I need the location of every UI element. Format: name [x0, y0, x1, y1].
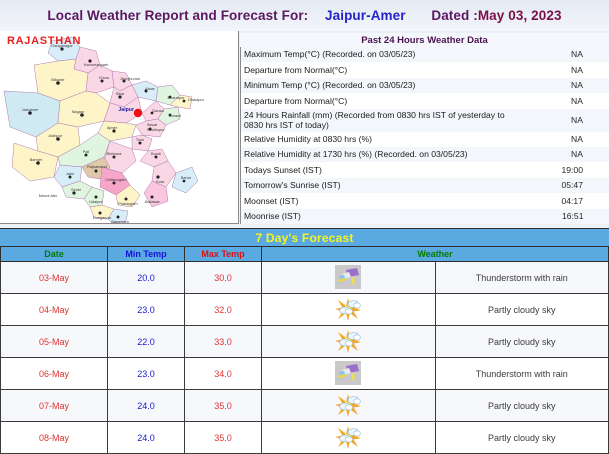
forecast-title: 7 Day's Forecast — [0, 228, 609, 247]
past-24-hours-panel: Past 24 Hours Weather Data Maximum Temp(… — [240, 33, 609, 223]
svg-text:Dhaulpur: Dhaulpur — [188, 97, 204, 102]
svg-text:Bundi: Bundi — [151, 151, 161, 156]
panel-divider — [238, 31, 239, 224]
partly-cloudy-icon — [333, 424, 363, 451]
forecast-icon-cell — [262, 422, 436, 454]
table-row: 04-May 23.0 32.0 — [1, 294, 609, 326]
svg-text:Churu: Churu — [99, 75, 110, 80]
row-value: NA — [508, 147, 609, 162]
forecast-max-temp: 35.0 — [185, 390, 262, 422]
svg-text:Rajsamand: Rajsamand — [87, 164, 107, 169]
svg-text:Nagaur: Nagaur — [72, 109, 85, 114]
svg-text:Pali: Pali — [83, 149, 90, 154]
partly-cloudy-icon — [333, 392, 363, 419]
table-row: 05-May 22.0 33.0 — [1, 326, 609, 358]
forecast-min-temp: 20.0 — [108, 262, 185, 294]
svg-text:Ajmer: Ajmer — [107, 125, 118, 130]
table-row: Relative Humidity at 0830 hrs (%) NA — [241, 132, 609, 147]
svg-text:Barmer: Barmer — [30, 157, 43, 162]
forecast-weather-text: Partly cloudy sky — [435, 422, 609, 454]
forecast-weather-text: Thunderstorm with rain — [435, 262, 609, 294]
map-city-jaipur: Jaipur — [118, 107, 134, 113]
svg-text:Udaipur: Udaipur — [89, 199, 103, 204]
svg-text:Sirohi: Sirohi — [71, 187, 81, 192]
row-label: Relative Humidity at 1730 hrs (%) (Recor… — [241, 147, 509, 162]
svg-text:Jhunjhunun: Jhunjhunun — [120, 76, 140, 81]
map-state-label: RAJASTHAN — [7, 35, 81, 47]
row-label: Departure from Normal(°C) — [241, 93, 509, 108]
forecast-date: 03-May — [1, 262, 108, 294]
forecast-max-temp: 30.0 — [185, 262, 262, 294]
row-label: 24 Hours Rainfall (mm) (Recorded from 08… — [241, 109, 509, 132]
rajasthan-map-svg: Ganganagar Hanumangarh Bikaner Churu Jhu… — [0, 31, 238, 224]
forecast-min-temp: 24.0 — [108, 390, 185, 422]
forecast-table: Date Min Temp Max Temp Weather 03-May 20… — [0, 247, 609, 454]
map-bottom-divider — [0, 223, 238, 224]
row-label: Moonrise (IST) — [241, 209, 509, 224]
row-label: Relative Humidity at 0830 hrs (%) — [241, 132, 509, 147]
row-value: NA — [508, 47, 609, 62]
svg-text:Pratapgarh: Pratapgarh — [118, 201, 137, 206]
svg-text:Baron: Baron — [181, 175, 191, 180]
forecast-min-temp: 24.0 — [108, 422, 185, 454]
svg-text:Karauli: Karauli — [169, 113, 181, 118]
table-row: 24 Hours Rainfall (mm) (Recorded from 08… — [241, 109, 609, 132]
weather-report-page: Local Weather Report and Forecast For: J… — [0, 0, 609, 452]
past-24-heading: Past 24 Hours Weather Data — [240, 33, 609, 47]
forecast-max-temp: 35.0 — [185, 422, 262, 454]
row-value: 19:00 — [508, 162, 609, 177]
row-value: NA — [508, 62, 609, 77]
forecast-icon-cell — [262, 262, 436, 294]
table-row: Minimum Temp (°C) (Recorded. on 03/05/23… — [241, 78, 609, 93]
table-row: Relative Humidity at 1730 hrs (%) (Recor… — [241, 147, 609, 162]
column-header-max-temp: Max Temp — [185, 247, 262, 262]
forecast-weather-text: Thunderstorm with rain — [435, 358, 609, 390]
table-row: 06-May 23.0 34.0 — [1, 358, 609, 390]
row-label: Departure from Normal(°C) — [241, 62, 509, 77]
forecast-weather-text: Partly cloudy sky — [435, 390, 609, 422]
svg-text:Tonk: Tonk — [136, 137, 144, 142]
title-location: Jaipur-Amer — [325, 8, 406, 23]
thunderstorm-rain-icon — [333, 360, 363, 387]
table-row: 08-May 24.0 35.0 — [1, 422, 609, 454]
table-row: Todays Sunset (IST) 19:00 — [241, 162, 609, 177]
table-row: 03-May 20.0 30.0 — [1, 262, 609, 294]
forecast-min-temp: 22.0 — [108, 326, 185, 358]
forecast-icon-cell — [262, 390, 436, 422]
forecast-date: 06-May — [1, 358, 108, 390]
svg-text:Jaisalmer: Jaisalmer — [22, 107, 39, 112]
svg-text:Bharatpur: Bharatpur — [167, 95, 185, 100]
partly-cloudy-icon — [333, 328, 363, 355]
row-value: 05:47 — [508, 178, 609, 193]
column-header-min-temp: Min Temp — [108, 247, 185, 262]
svg-text:Madhopur: Madhopur — [147, 127, 165, 132]
table-row: 07-May 24.0 35.0 — [1, 390, 609, 422]
forecast-min-temp: 23.0 — [108, 294, 185, 326]
row-value: NA — [508, 109, 609, 132]
title-dated-value: May 03, 2023 — [478, 8, 562, 23]
table-row: Moonset (IST) 04:17 — [241, 193, 609, 208]
forecast-date: 05-May — [1, 326, 108, 358]
past-24-table: Maximum Temp(°C) (Recorded. on 03/05/23)… — [240, 47, 609, 224]
svg-text:Bhilwara: Bhilwara — [107, 151, 123, 156]
thunderstorm-rain-icon — [333, 264, 363, 291]
forecast-icon-cell — [262, 326, 436, 358]
forecast-max-temp: 34.0 — [185, 358, 262, 390]
district-baran — [172, 167, 198, 193]
forecast-date: 07-May — [1, 390, 108, 422]
forecast-date: 08-May — [1, 422, 108, 454]
svg-text:Mount Abu: Mount Abu — [39, 193, 58, 198]
forecast-max-temp: 33.0 — [185, 326, 262, 358]
svg-text:Kota: Kota — [156, 179, 165, 184]
forecast-icon-cell — [262, 294, 436, 326]
column-header-weather: Weather — [262, 247, 609, 262]
page-header: Local Weather Report and Forecast For: J… — [0, 0, 609, 31]
forecast-weather-text: Partly cloudy sky — [435, 326, 609, 358]
partly-cloudy-icon — [333, 296, 363, 323]
row-label: Tomorrow's Sunrise (IST) — [241, 178, 509, 193]
column-header-date: Date — [1, 247, 108, 262]
row-value: NA — [508, 132, 609, 147]
row-value: NA — [508, 78, 609, 93]
forecast-section: 7 Day's Forecast Date Min Temp Max Temp … — [0, 228, 609, 454]
title-prefix: Local Weather Report and Forecast For: — [47, 8, 308, 23]
jaipur-location-marker — [134, 109, 142, 117]
table-row: Maximum Temp(°C) (Recorded. on 03/05/23)… — [241, 47, 609, 62]
row-label: Maximum Temp(°C) (Recorded. on 03/05/23) — [241, 47, 509, 62]
forecast-icon-cell — [262, 358, 436, 390]
forecast-date: 04-May — [1, 294, 108, 326]
row-value: 16:51 — [508, 209, 609, 224]
table-row: Moonrise (IST) 16:51 — [241, 209, 609, 224]
rajasthan-map-panel: RAJASTHAN — [0, 31, 238, 224]
forecast-max-temp: 32.0 — [185, 294, 262, 326]
forecast-min-temp: 23.0 — [108, 358, 185, 390]
row-value: NA — [508, 93, 609, 108]
table-row: Tomorrow's Sunrise (IST) 05:47 — [241, 178, 609, 193]
svg-text:Chittaurgarh: Chittaurgarh — [105, 177, 126, 182]
row-label: Minimum Temp (°C) (Recorded. on 03/05/23… — [241, 78, 509, 93]
svg-text:Dausa: Dausa — [152, 108, 164, 113]
svg-text:Dungarpur: Dungarpur — [93, 215, 112, 220]
row-label: Todays Sunset (IST) — [241, 162, 509, 177]
svg-text:Bikaner: Bikaner — [51, 77, 65, 82]
title-dated-label: Dated : — [431, 8, 477, 23]
svg-text:Hanumangarh: Hanumangarh — [84, 62, 109, 67]
page-title: Local Weather Report and Forecast For: J… — [47, 8, 561, 23]
svg-text:Alwar: Alwar — [145, 86, 155, 91]
svg-text:Jalor: Jalor — [66, 171, 75, 176]
forecast-weather-text: Partly cloudy sky — [435, 294, 609, 326]
row-label: Moonset (IST) — [241, 193, 509, 208]
row-value: 04:17 — [508, 193, 609, 208]
svg-text:Jodhpur: Jodhpur — [48, 133, 63, 138]
svg-text:Sikar: Sikar — [116, 91, 126, 96]
svg-text:Jhalawar: Jhalawar — [144, 199, 160, 204]
table-row: Departure from Normal(°C) NA — [241, 62, 609, 77]
table-row: Departure from Normal(°C) NA — [241, 93, 609, 108]
forecast-header-row: Date Min Temp Max Temp Weather — [1, 247, 609, 262]
